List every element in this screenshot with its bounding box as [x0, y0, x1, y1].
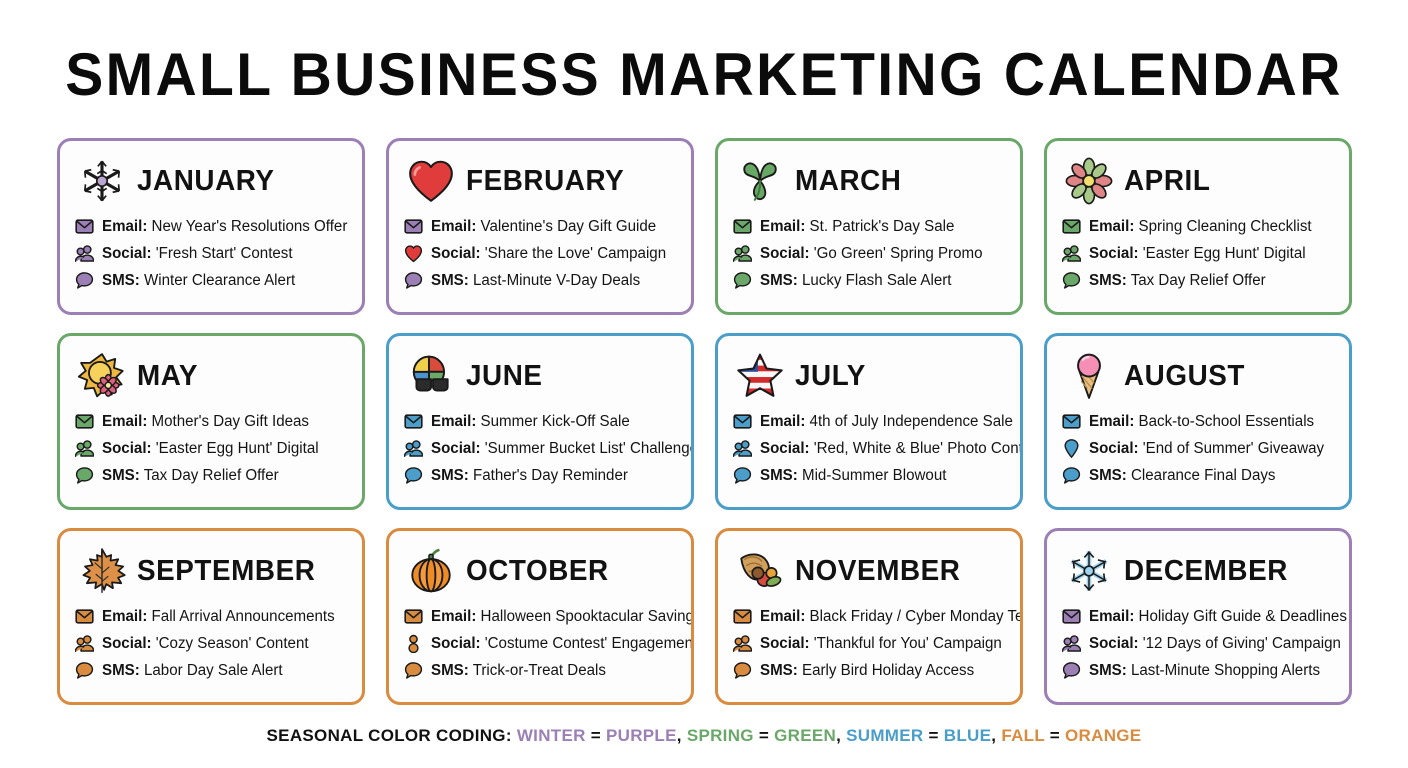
channel-label-email: Email:	[760, 218, 805, 235]
maple-leaf-icon	[77, 546, 127, 596]
channel-value-sms: Clearance Final Days	[1131, 467, 1275, 484]
channel-row-email: Email: Holiday Gift Guide & Deadlines	[1062, 605, 1336, 627]
legend-season-winter: WINTER	[517, 726, 586, 745]
channel-value-email: 4th of July Independence Sale	[810, 413, 1013, 430]
sms-icon	[733, 466, 752, 485]
channel-text-social: Social: 'Summer Bucket List' Challenge	[431, 439, 694, 458]
month-card-february: FEBRUARYEmail: Valentine's Day Gift Guid…	[386, 138, 694, 315]
channel-value-social: 'Costume Contest' Engagement	[485, 635, 694, 652]
email-icon	[733, 607, 752, 626]
channel-text-email: Email: New Year's Resolutions Offer	[102, 217, 347, 236]
ice-cream-cone-icon	[1064, 351, 1114, 401]
channel-value-sms: Lucky Flash Sale Alert	[802, 272, 952, 289]
channel-label-social: Social:	[431, 635, 481, 652]
channel-rows: Email: Summer Kick-Off SaleSocial: 'Summ…	[402, 410, 678, 486]
email-icon	[75, 607, 94, 626]
channel-text-sms: SMS: Trick-or-Treat Deals	[431, 661, 606, 680]
two-people-icon	[1062, 244, 1081, 263]
channel-row-email: Email: Back-to-School Essentials	[1062, 410, 1336, 432]
email-icon	[404, 217, 423, 236]
channel-rows: Email: Spring Cleaning ChecklistSocial: …	[1060, 215, 1336, 291]
month-card-july: JULYEmail: 4th of July Independence Sale…	[715, 333, 1023, 510]
channel-row-email: Email: St. Patrick's Day Sale	[733, 215, 1007, 237]
channel-label-email: Email:	[760, 413, 805, 430]
channel-value-social: 'Share the Love' Campaign	[485, 245, 666, 262]
channel-value-email: Back-to-School Essentials	[1139, 413, 1315, 430]
month-card-january: JANUARYEmail: New Year's Resolutions Off…	[57, 138, 365, 315]
channel-row-sms: SMS: Tax Day Relief Offer	[1062, 269, 1336, 291]
channel-text-social: Social: 'Share the Love' Campaign	[431, 244, 666, 263]
channel-label-email: Email:	[431, 608, 476, 625]
channel-value-social: 'Easter Egg Hunt' Digital	[1143, 245, 1306, 262]
channel-row-sms: SMS: Father's Day Reminder	[404, 464, 678, 486]
channel-label-sms: SMS:	[102, 662, 140, 679]
channel-value-email: Fall Arrival Announcements	[152, 608, 335, 625]
sms-icon	[733, 661, 752, 680]
channel-row-social: Social: 'Red, White & Blue' Photo Contes…	[733, 437, 1007, 459]
legend-color-blue: BLUE	[944, 726, 991, 745]
channel-text-social: Social: 'Fresh Start' Contest	[102, 244, 293, 263]
channel-value-social: 'End of Summer' Giveaway	[1143, 440, 1324, 457]
channel-row-sms: SMS: Last-Minute V-Day Deals	[404, 269, 678, 291]
channel-value-sms: Trick-or-Treat Deals	[473, 662, 606, 679]
legend-equals: =	[591, 726, 601, 745]
sms-icon	[75, 661, 94, 680]
channel-text-email: Email: 4th of July Independence Sale	[760, 412, 1013, 431]
channel-row-sms: SMS: Last-Minute Shopping Alerts	[1062, 659, 1336, 681]
usa-flag-star-icon	[735, 351, 785, 401]
channel-text-email: Email: Black Friday / Cyber Monday Tease…	[760, 607, 1023, 626]
sms-icon	[733, 271, 752, 290]
two-people-icon	[75, 244, 94, 263]
channel-label-sms: SMS:	[1089, 662, 1127, 679]
legend-season-summer: SUMMER	[846, 726, 923, 745]
channel-text-email: Email: Summer Kick-Off Sale	[431, 412, 630, 431]
channel-row-sms: SMS: Lucky Flash Sale Alert	[733, 269, 1007, 291]
channel-label-email: Email:	[760, 608, 805, 625]
channel-text-social: Social: 'Go Green' Spring Promo	[760, 244, 982, 263]
channel-text-email: Email: Halloween Spooktacular Savings	[431, 607, 694, 626]
channel-text-sms: SMS: Early Bird Holiday Access	[760, 661, 974, 680]
channel-label-sms: SMS:	[760, 662, 798, 679]
month-name: JANUARY	[137, 166, 275, 196]
channel-row-social: Social: 'Thankful for You' Campaign	[733, 632, 1007, 654]
month-card-header: AUGUST	[1060, 348, 1336, 404]
channel-value-social: 'Easter Egg Hunt' Digital	[156, 440, 319, 457]
channel-text-email: Email: Back-to-School Essentials	[1089, 412, 1314, 431]
channel-label-email: Email:	[1089, 413, 1134, 430]
channel-label-social: Social:	[760, 245, 810, 262]
channel-label-sms: SMS:	[431, 662, 469, 679]
legend-color-orange: ORANGE	[1065, 726, 1141, 745]
channel-label-email: Email:	[102, 608, 147, 625]
seasonal-color-legend: SEASONAL COLOR CODING: WINTER = PURPLE, …	[0, 726, 1408, 746]
two-people-icon	[75, 439, 94, 458]
month-card-december: DECEMBEREmail: Holiday Gift Guide & Dead…	[1044, 528, 1352, 705]
email-icon	[75, 412, 94, 431]
month-name: JUNE	[466, 361, 543, 391]
channel-row-email: Email: Summer Kick-Off Sale	[404, 410, 678, 432]
channel-row-social: Social: 'Costume Contest' Engagement	[404, 632, 678, 654]
channel-text-social: Social: 'Costume Contest' Engagement	[431, 634, 694, 653]
channel-label-sms: SMS:	[760, 272, 798, 289]
two-people-icon	[404, 439, 423, 458]
month-card-header: APRIL	[1060, 153, 1336, 209]
channel-text-sms: SMS: Last-Minute Shopping Alerts	[1089, 661, 1320, 680]
sms-icon	[404, 271, 423, 290]
channel-label-social: Social:	[1089, 440, 1139, 457]
channel-text-email: Email: Fall Arrival Announcements	[102, 607, 335, 626]
single-person-icon	[404, 634, 423, 653]
cornucopia-icon	[735, 546, 785, 596]
channel-label-social: Social:	[1089, 635, 1139, 652]
channel-value-sms: Last-Minute Shopping Alerts	[1131, 662, 1320, 679]
month-name: MAY	[137, 361, 198, 391]
channel-row-social: Social: 'Go Green' Spring Promo	[733, 242, 1007, 264]
email-icon	[75, 217, 94, 236]
channel-value-email: St. Patrick's Day Sale	[810, 218, 955, 235]
channel-label-social: Social:	[760, 440, 810, 457]
month-card-header: OCTOBER	[402, 543, 678, 599]
channel-row-email: Email: Spring Cleaning Checklist	[1062, 215, 1336, 237]
channel-row-sms: SMS: Winter Clearance Alert	[75, 269, 349, 291]
month-card-header: SEPTEMBER	[73, 543, 349, 599]
channel-row-sms: SMS: Early Bird Holiday Access	[733, 659, 1007, 681]
channel-rows: Email: Holiday Gift Guide & DeadlinesSoc…	[1060, 605, 1336, 681]
channel-value-social: 'Red, White & Blue' Photo Contest	[814, 440, 1023, 457]
month-name: MARCH	[795, 166, 902, 196]
channel-row-sms: SMS: Clearance Final Days	[1062, 464, 1336, 486]
channel-row-email: Email: Halloween Spooktacular Savings	[404, 605, 678, 627]
month-card-header: DECEMBER	[1060, 543, 1336, 599]
channel-row-email: Email: 4th of July Independence Sale	[733, 410, 1007, 432]
channel-label-sms: SMS:	[1089, 272, 1127, 289]
email-icon	[1062, 412, 1081, 431]
heart-icon	[404, 244, 423, 263]
heart-icon	[406, 156, 456, 206]
channel-label-sms: SMS:	[760, 467, 798, 484]
month-card-september: SEPTEMBEREmail: Fall Arrival Announcemen…	[57, 528, 365, 705]
channel-text-email: Email: St. Patrick's Day Sale	[760, 217, 954, 236]
shamrock-icon	[735, 156, 785, 206]
month-name: SEPTEMBER	[137, 556, 315, 586]
month-card-header: JUNE	[402, 348, 678, 404]
pumpkin-icon	[406, 546, 456, 596]
channel-text-social: Social: 'Easter Egg Hunt' Digital	[102, 439, 319, 458]
channel-value-email: Holiday Gift Guide & Deadlines	[1139, 608, 1347, 625]
channel-label-email: Email:	[102, 218, 147, 235]
channel-text-email: Email: Holiday Gift Guide & Deadlines	[1089, 607, 1347, 626]
channel-rows: Email: 4th of July Independence SaleSoci…	[731, 410, 1007, 486]
marketing-calendar-page: SMALL BUSINESS MARKETING CALENDAR JANUAR…	[0, 0, 1408, 768]
channel-rows: Email: Mother's Day Gift IdeasSocial: 'E…	[73, 410, 349, 486]
two-people-icon	[733, 634, 752, 653]
channel-label-sms: SMS:	[431, 467, 469, 484]
channel-label-email: Email:	[1089, 608, 1134, 625]
email-icon	[404, 412, 423, 431]
channel-value-email: New Year's Resolutions Offer	[152, 218, 348, 235]
channel-value-social: 'Go Green' Spring Promo	[814, 245, 983, 262]
channel-label-email: Email:	[431, 413, 476, 430]
channel-text-sms: SMS: Tax Day Relief Offer	[102, 466, 279, 485]
channel-row-email: Email: Fall Arrival Announcements	[75, 605, 349, 627]
channel-rows: Email: Valentine's Day Gift GuideSocial:…	[402, 215, 678, 291]
month-card-header: JULY	[731, 348, 1007, 404]
channel-text-sms: SMS: Lucky Flash Sale Alert	[760, 271, 952, 290]
flower-icon	[1064, 156, 1114, 206]
month-name: APRIL	[1124, 166, 1210, 196]
channel-label-social: Social:	[431, 245, 481, 262]
channel-label-email: Email:	[102, 413, 147, 430]
channel-row-social: Social: '12 Days of Giving' Campaign	[1062, 632, 1336, 654]
channel-value-sms: Tax Day Relief Offer	[144, 467, 279, 484]
legend-season-spring: SPRING	[687, 726, 754, 745]
channel-text-social: Social: 'Cozy Season' Content	[102, 634, 309, 653]
month-card-october: OCTOBEREmail: Halloween Spooktacular Sav…	[386, 528, 694, 705]
channel-row-email: Email: New Year's Resolutions Offer	[75, 215, 349, 237]
channel-label-social: Social:	[102, 245, 152, 262]
channel-text-social: Social: 'Thankful for You' Campaign	[760, 634, 1002, 653]
channel-text-email: Email: Valentine's Day Gift Guide	[431, 217, 656, 236]
two-people-icon	[75, 634, 94, 653]
month-card-header: FEBRUARY	[402, 153, 678, 209]
channel-rows: Email: Black Friday / Cyber Monday Tease…	[731, 605, 1007, 681]
channel-label-email: Email:	[431, 218, 476, 235]
channel-value-social: 'Summer Bucket List' Challenge	[485, 440, 694, 457]
month-card-header: NOVEMBER	[731, 543, 1007, 599]
channel-value-social: 'Cozy Season' Content	[156, 635, 309, 652]
channel-row-social: Social: 'End of Summer' Giveaway	[1062, 437, 1336, 459]
month-card-header: MARCH	[731, 153, 1007, 209]
legend-equals: =	[759, 726, 769, 745]
channel-value-email: Valentine's Day Gift Guide	[481, 218, 657, 235]
legend-prefix: SEASONAL COLOR CODING:	[267, 726, 512, 745]
channel-label-sms: SMS:	[1089, 467, 1127, 484]
channel-value-email: Spring Cleaning Checklist	[1139, 218, 1312, 235]
channel-value-sms: Tax Day Relief Offer	[1131, 272, 1266, 289]
month-card-november: NOVEMBEREmail: Black Friday / Cyber Mond…	[715, 528, 1023, 705]
channel-row-social: Social: 'Fresh Start' Contest	[75, 242, 349, 264]
channel-value-email: Mother's Day Gift Ideas	[152, 413, 309, 430]
channel-value-email: Summer Kick-Off Sale	[481, 413, 630, 430]
channel-row-email: Email: Black Friday / Cyber Monday Tease…	[733, 605, 1007, 627]
channel-text-sms: SMS: Father's Day Reminder	[431, 466, 628, 485]
channel-value-sms: Early Bird Holiday Access	[802, 662, 974, 679]
legend-separator: ,	[836, 726, 841, 745]
sms-icon	[75, 271, 94, 290]
channel-label-social: Social:	[102, 440, 152, 457]
channel-rows: Email: Back-to-School EssentialsSocial: …	[1060, 410, 1336, 486]
channel-text-sms: SMS: Tax Day Relief Offer	[1089, 271, 1266, 290]
channel-text-sms: SMS: Last-Minute V-Day Deals	[431, 271, 640, 290]
channel-row-sms: SMS: Tax Day Relief Offer	[75, 464, 349, 486]
month-name: FEBRUARY	[466, 166, 624, 196]
channel-label-social: Social:	[102, 635, 152, 652]
month-card-august: AUGUSTEmail: Back-to-School EssentialsSo…	[1044, 333, 1352, 510]
location-pin-icon	[1062, 439, 1081, 458]
channel-row-social: Social: 'Cozy Season' Content	[75, 632, 349, 654]
sms-icon	[1062, 661, 1081, 680]
month-card-header: MAY	[73, 348, 349, 404]
channel-value-sms: Labor Day Sale Alert	[144, 662, 283, 679]
sms-icon	[404, 466, 423, 485]
channel-value-social: 'Thankful for You' Campaign	[814, 635, 1002, 652]
channel-text-social: Social: '12 Days of Giving' Campaign	[1089, 634, 1341, 653]
channel-text-sms: SMS: Mid-Summer Blowout	[760, 466, 946, 485]
channel-rows: Email: Fall Arrival AnnouncementsSocial:…	[73, 605, 349, 681]
legend-color-green: GREEN	[774, 726, 836, 745]
channel-row-sms: SMS: Trick-or-Treat Deals	[404, 659, 678, 681]
channel-text-social: Social: 'End of Summer' Giveaway	[1089, 439, 1324, 458]
month-card-may: MAYEmail: Mother's Day Gift IdeasSocial:…	[57, 333, 365, 510]
beach-ball-sunglasses-icon	[406, 351, 456, 401]
month-card-grid: JANUARYEmail: New Year's Resolutions Off…	[57, 138, 1353, 705]
two-people-icon	[733, 244, 752, 263]
month-name: AUGUST	[1124, 361, 1245, 391]
legend-color-purple: PURPLE	[606, 726, 677, 745]
channel-value-email: Black Friday / Cyber Monday Teasers	[810, 608, 1023, 625]
channel-value-email: Halloween Spooktacular Savings	[481, 608, 694, 625]
channel-row-social: Social: 'Summer Bucket List' Challenge	[404, 437, 678, 459]
channel-row-email: Email: Mother's Day Gift Ideas	[75, 410, 349, 432]
channel-row-sms: SMS: Labor Day Sale Alert	[75, 659, 349, 681]
month-name: NOVEMBER	[795, 556, 960, 586]
month-name: JULY	[795, 361, 866, 391]
channel-row-social: Social: 'Share the Love' Campaign	[404, 242, 678, 264]
email-icon	[733, 412, 752, 431]
channel-text-sms: SMS: Clearance Final Days	[1089, 466, 1275, 485]
channel-text-sms: SMS: Winter Clearance Alert	[102, 271, 295, 290]
channel-value-sms: Last-Minute V-Day Deals	[473, 272, 640, 289]
channel-text-social: Social: 'Easter Egg Hunt' Digital	[1089, 244, 1306, 263]
channel-rows: Email: St. Patrick's Day SaleSocial: 'Go…	[731, 215, 1007, 291]
channel-text-social: Social: 'Red, White & Blue' Photo Contes…	[760, 439, 1023, 458]
legend-season-fall: FALL	[1001, 726, 1044, 745]
month-card-march: MARCHEmail: St. Patrick's Day SaleSocial…	[715, 138, 1023, 315]
email-icon	[1062, 217, 1081, 236]
channel-label-email: Email:	[1089, 218, 1134, 235]
channel-label-sms: SMS:	[102, 272, 140, 289]
email-icon	[1062, 607, 1081, 626]
page-title: SMALL BUSINESS MARKETING CALENDAR	[35, 44, 1373, 106]
channel-label-sms: SMS:	[431, 272, 469, 289]
legend-separator: ,	[677, 726, 682, 745]
snowflake-blue-icon	[1064, 546, 1114, 596]
sms-icon	[75, 466, 94, 485]
channel-value-sms: Mid-Summer Blowout	[802, 467, 946, 484]
channel-label-sms: SMS:	[102, 467, 140, 484]
month-card-header: JANUARY	[73, 153, 349, 209]
sms-icon	[1062, 466, 1081, 485]
channel-row-email: Email: Valentine's Day Gift Guide	[404, 215, 678, 237]
channel-label-social: Social:	[1089, 245, 1139, 262]
sms-icon	[1062, 271, 1081, 290]
legend-equals: =	[1050, 726, 1060, 745]
sun-flower-icon	[77, 351, 127, 401]
month-card-april: APRILEmail: Spring Cleaning ChecklistSoc…	[1044, 138, 1352, 315]
channel-label-social: Social:	[431, 440, 481, 457]
channel-text-email: Email: Mother's Day Gift Ideas	[102, 412, 309, 431]
month-card-june: JUNEEmail: Summer Kick-Off SaleSocial: '…	[386, 333, 694, 510]
channel-value-sms: Father's Day Reminder	[473, 467, 628, 484]
channel-row-social: Social: 'Easter Egg Hunt' Digital	[1062, 242, 1336, 264]
channel-row-social: Social: 'Easter Egg Hunt' Digital	[75, 437, 349, 459]
legend-equals: =	[929, 726, 939, 745]
channel-row-sms: SMS: Mid-Summer Blowout	[733, 464, 1007, 486]
snowflake-icon	[77, 156, 127, 206]
month-name: OCTOBER	[466, 556, 609, 586]
channel-value-social: '12 Days of Giving' Campaign	[1143, 635, 1341, 652]
channel-text-sms: SMS: Labor Day Sale Alert	[102, 661, 283, 680]
email-icon	[733, 217, 752, 236]
month-name: DECEMBER	[1124, 556, 1288, 586]
channel-label-social: Social:	[760, 635, 810, 652]
two-people-icon	[733, 439, 752, 458]
legend-separator: ,	[991, 726, 996, 745]
two-people-icon	[1062, 634, 1081, 653]
channel-value-social: 'Fresh Start' Contest	[156, 245, 293, 262]
channel-value-sms: Winter Clearance Alert	[144, 272, 295, 289]
sms-icon	[404, 661, 423, 680]
channel-text-email: Email: Spring Cleaning Checklist	[1089, 217, 1312, 236]
channel-rows: Email: New Year's Resolutions OfferSocia…	[73, 215, 349, 291]
channel-rows: Email: Halloween Spooktacular SavingsSoc…	[402, 605, 678, 681]
email-icon	[404, 607, 423, 626]
